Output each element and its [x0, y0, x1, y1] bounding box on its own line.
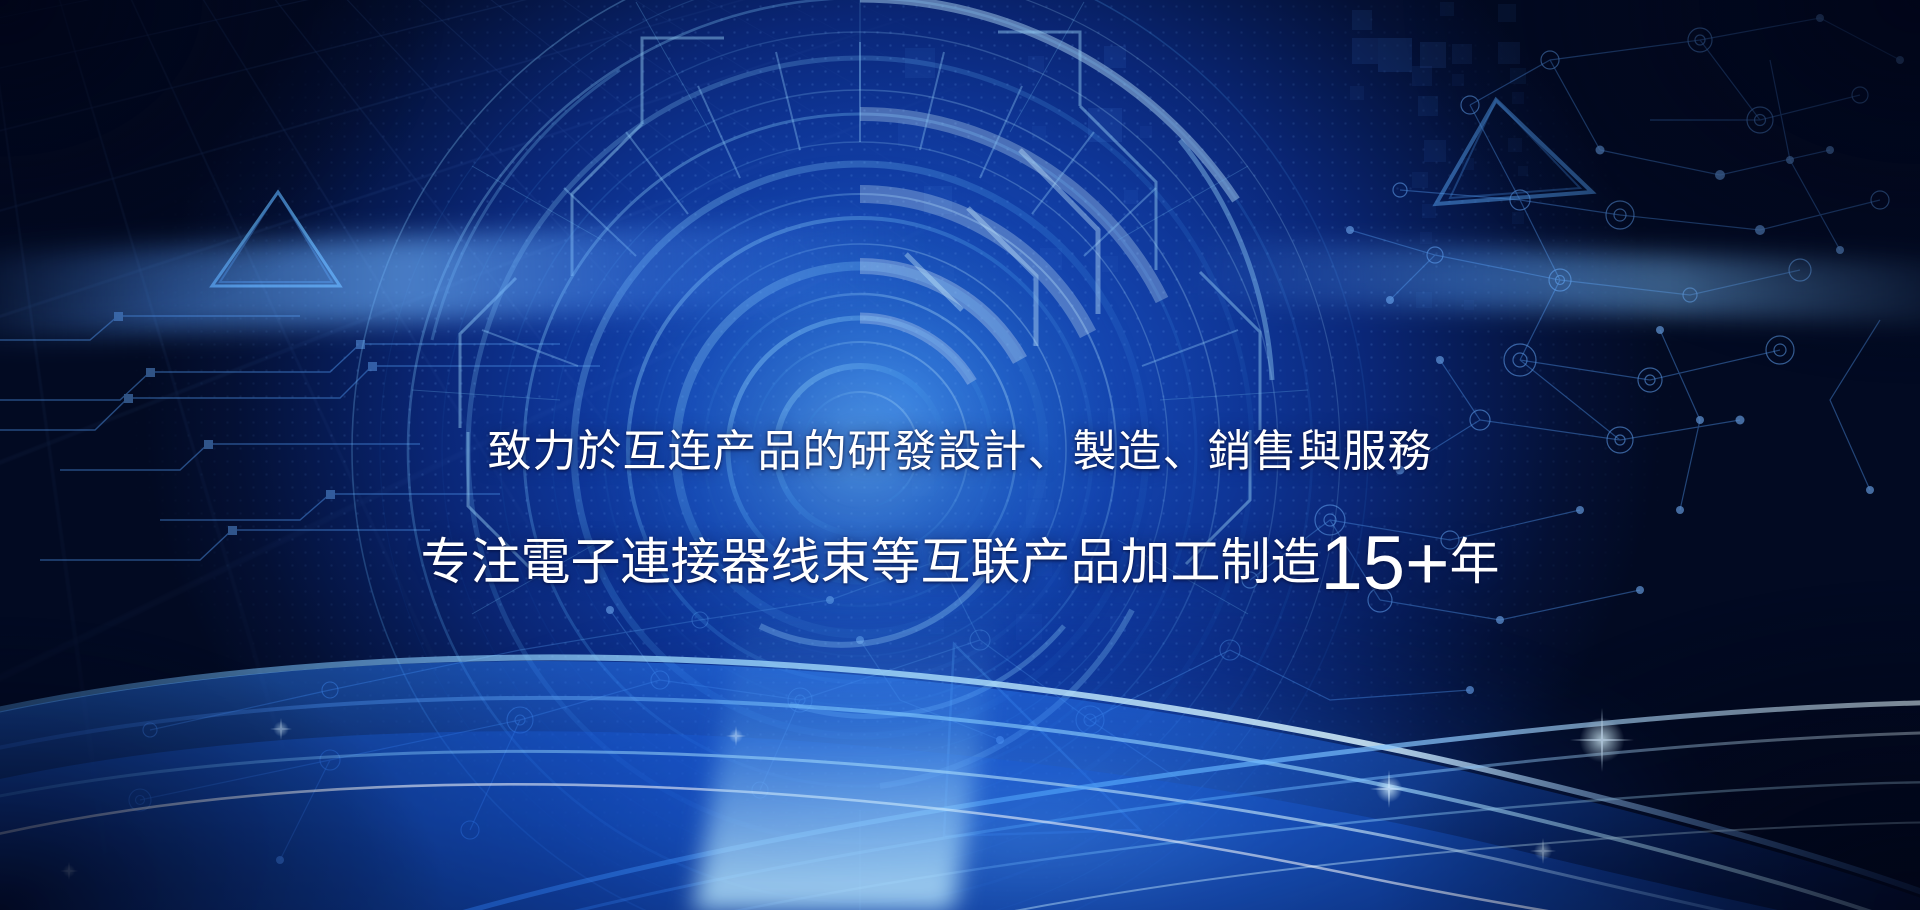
years-unit-label: 年	[1449, 534, 1499, 590]
headline-line-2-prefix: 专注電子連接器线束等互联产品加工制造	[421, 534, 1321, 590]
headline-line-2: 专注電子連接器线束等互联产品加工制造15+年	[0, 530, 1920, 598]
years-count: 15+	[1321, 521, 1450, 606]
headline-group: 致力於互连产品的研發設計、製造、銷售與服務 专注電子連接器线束等互联产品加工制造…	[0, 0, 1920, 910]
hero-banner: 致力於互连产品的研發設計、製造、銷售與服務 专注電子連接器线束等互联产品加工制造…	[0, 0, 1920, 910]
headline-line-1: 致力於互连产品的研發設計、製造、銷售與服務	[0, 430, 1920, 474]
